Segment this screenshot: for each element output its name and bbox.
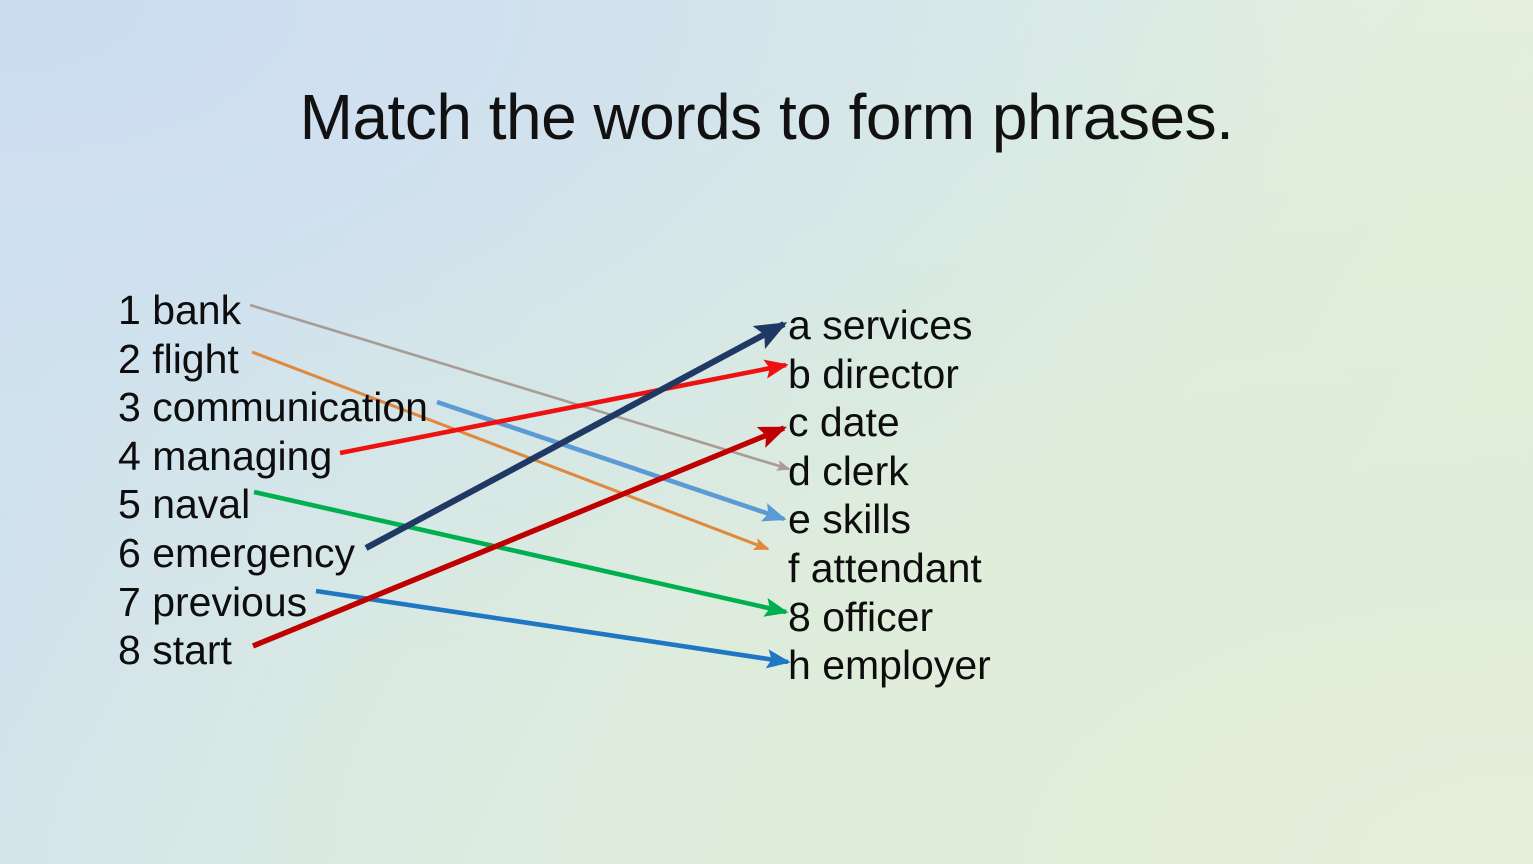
right-item-g[interactable]: 8 officer bbox=[788, 593, 991, 642]
left-word-column: 1 bank 2 flight 3 communication 4 managi… bbox=[118, 286, 428, 675]
right-item-b[interactable]: b director bbox=[788, 350, 991, 399]
left-item-2[interactable]: 2 flight bbox=[118, 335, 428, 384]
left-item-7[interactable]: 7 previous bbox=[118, 578, 428, 627]
right-item-d[interactable]: d clerk bbox=[788, 447, 991, 496]
right-word-column: a services b director c date d clerk e s… bbox=[788, 301, 991, 690]
left-item-6[interactable]: 6 emergency bbox=[118, 529, 428, 578]
left-item-8[interactable]: 8 start bbox=[118, 626, 428, 675]
right-item-e[interactable]: e skills bbox=[788, 495, 991, 544]
connector-communication-to-skills[interactable] bbox=[437, 402, 784, 519]
right-item-f[interactable]: f attendant bbox=[788, 544, 991, 593]
slide-canvas: Match the words to form phrases. 1 bank … bbox=[0, 0, 1533, 864]
left-item-4[interactable]: 4 managing bbox=[118, 432, 428, 481]
connector-emergency-to-services[interactable] bbox=[366, 324, 784, 548]
left-item-3[interactable]: 3 communication bbox=[118, 383, 428, 432]
right-item-c[interactable]: c date bbox=[788, 398, 991, 447]
left-item-1[interactable]: 1 bank bbox=[118, 286, 428, 335]
left-item-5[interactable]: 5 naval bbox=[118, 480, 428, 529]
right-item-a[interactable]: a services bbox=[788, 301, 991, 350]
right-item-h[interactable]: h employer bbox=[788, 641, 991, 690]
page-title: Match the words to form phrases. bbox=[0, 82, 1533, 152]
